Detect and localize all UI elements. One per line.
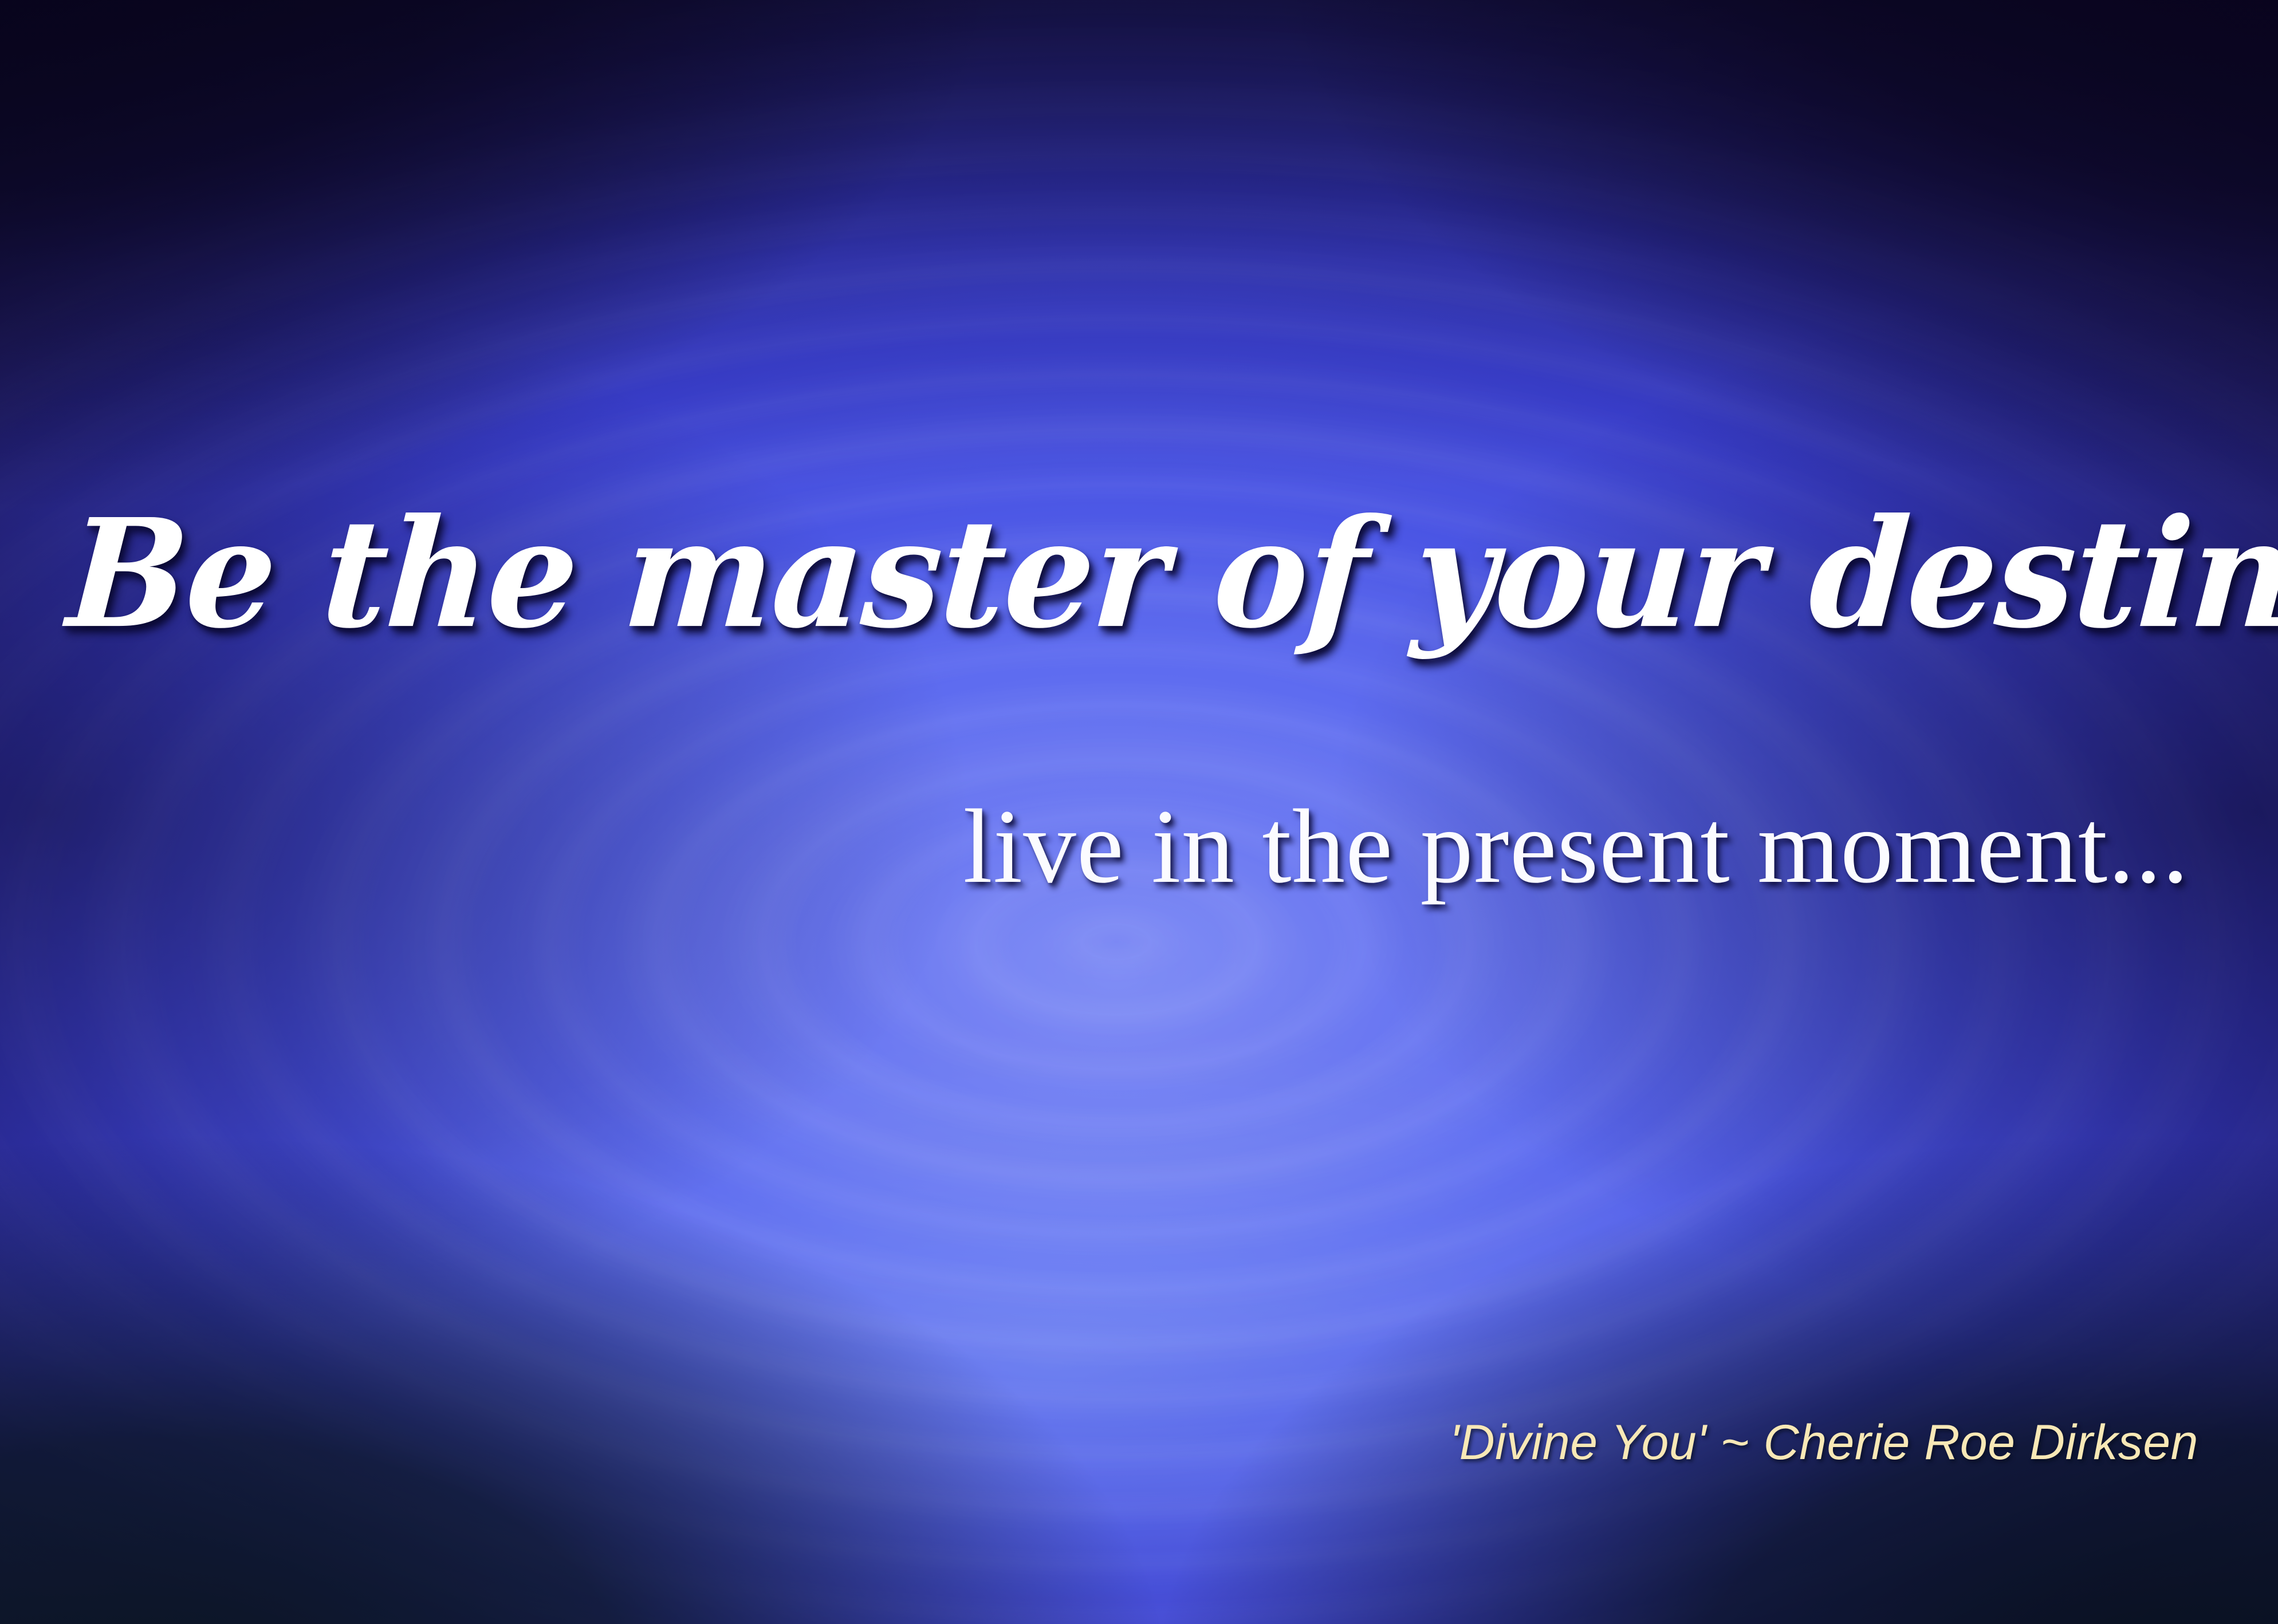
quote-line-primary: Be the master of your destiny ~ [64,500,2227,649]
attribution-credit: 'Divine You' ~ Cherie Roe Dirksen [0,1418,2198,1467]
quote-block: Be the master of your destiny ~ live in … [0,0,2278,1624]
quote-line-secondary: live in the present moment... [0,794,2189,900]
quote-poster: Be the master of your destiny ~ live in … [0,0,2278,1624]
